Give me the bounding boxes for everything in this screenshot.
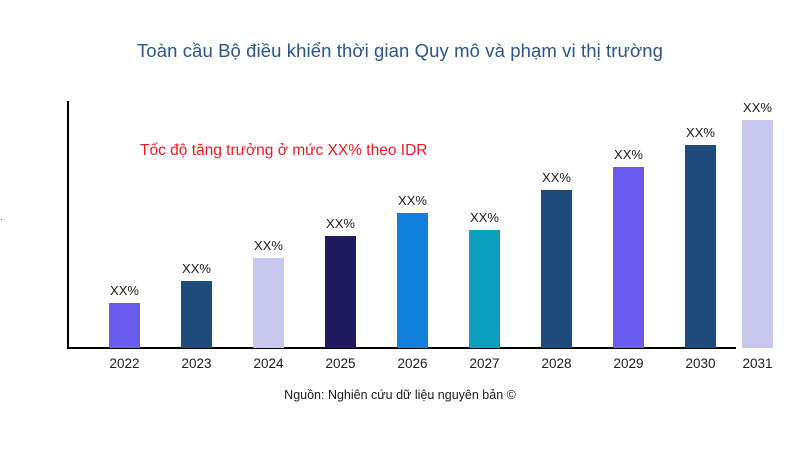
bar-value-label-2028: XX% [527, 170, 587, 185]
bar-value-label-2026: XX% [383, 193, 443, 208]
chart-screenshot: Toàn cầu Bộ điều khiển thời gian Quy mô … [0, 0, 800, 450]
x-tick-2023: 2023 [167, 356, 227, 371]
x-tick-2026: 2026 [383, 356, 443, 371]
bar-value-label-2023: XX% [167, 261, 227, 276]
bar-2023[interactable] [181, 281, 212, 348]
bar-2029[interactable] [613, 167, 644, 348]
bar-value-label-2030: XX% [671, 125, 731, 140]
x-tick-2027: 2027 [455, 356, 515, 371]
bar-2028[interactable] [541, 190, 572, 348]
x-tick-2025: 2025 [311, 356, 371, 371]
x-tick-2030: 2030 [671, 356, 731, 371]
bar-value-label-2022: XX% [95, 283, 155, 298]
bar-2027[interactable] [469, 230, 500, 348]
x-tick-2022: 2022 [95, 356, 155, 371]
bar-2026[interactable] [397, 213, 428, 348]
bar-2025[interactable] [325, 236, 356, 348]
bar-value-label-2031: XX% [728, 100, 788, 115]
x-tick-2029: 2029 [599, 356, 659, 371]
bar-value-label-2029: XX% [599, 147, 659, 162]
x-tick-2031: 2031 [728, 356, 788, 371]
x-tick-2028: 2028 [527, 356, 587, 371]
x-tick-2024: 2024 [239, 356, 299, 371]
bar-2030[interactable] [685, 145, 716, 348]
bar-value-label-2025: XX% [311, 216, 371, 231]
bar-2024[interactable] [253, 258, 284, 348]
source-note: Nguồn: Nghiên cứu dữ liệu nguyên bản © [0, 388, 800, 402]
bars-container: XX%2022XX%2023XX%2024XX%2025XX%2026XX%20… [0, 0, 800, 348]
bar-value-label-2027: XX% [455, 210, 515, 225]
bar-value-label-2024: XX% [239, 238, 299, 253]
bar-2031[interactable] [742, 120, 773, 348]
bar-2022[interactable] [109, 303, 140, 348]
